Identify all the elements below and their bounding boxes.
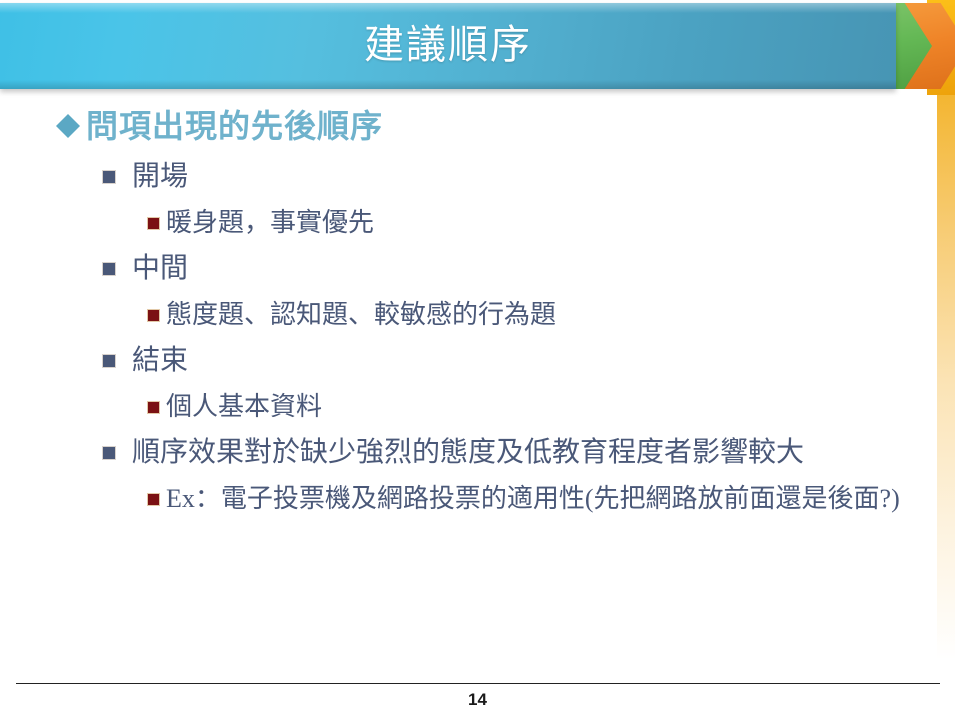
small-square-bullet-icon (148, 402, 159, 413)
small-square-bullet-icon (148, 310, 159, 321)
slide-canvas: 建議順序 問項出現的先後順序 開場 暖身題，事實優先 中間 (0, 0, 955, 719)
outline-item-level3-label: Ex：電子投票機及網路投票的適用性(先把網路放前面還是後面?) (166, 478, 900, 520)
outline-item-level1-label: 問項出現的先後順序 (86, 104, 383, 148)
outline-item-level1: 問項出現的先後順序 (0, 104, 940, 148)
slide-title: 建議順序 (0, 12, 896, 78)
footer-divider (16, 683, 940, 684)
outline-item-level2-label: 中間 (132, 246, 188, 292)
square-bullet-icon (103, 263, 115, 275)
diamond-bullet-icon (55, 113, 81, 139)
square-bullet-icon (103, 171, 115, 183)
outline-item-level2: 結束 (0, 338, 940, 384)
outline-item-level2: 開場 (0, 154, 940, 200)
outline-item-level3-label: 個人基本資料 (166, 386, 322, 428)
slide-header-banner: 建議順序 (0, 3, 896, 89)
outline-item-level3: 暖身題，事實優先 (0, 202, 940, 244)
outline-item-level3-label: 態度題、認知題、較敏感的行為題 (166, 294, 556, 336)
square-bullet-icon (103, 355, 115, 367)
outline-item-level3-label: 暖身題，事實優先 (166, 202, 374, 244)
outline-item-level3: 個人基本資料 (0, 386, 940, 428)
small-square-bullet-icon (148, 494, 159, 505)
outline-item-level2: 中間 (0, 246, 940, 292)
outline-item-level2-label: 開場 (132, 154, 188, 200)
square-bullet-icon (103, 447, 115, 459)
outline-item-level2-label: 順序效果對於缺少強烈的態度及低教育程度者影響較大 (132, 430, 804, 476)
outline-item-level2: 順序效果對於缺少強烈的態度及低教育程度者影響較大 (0, 430, 940, 476)
page-number: 14 (0, 690, 955, 710)
outline-item-level3: Ex：電子投票機及網路投票的適用性(先把網路放前面還是後面?) (0, 478, 940, 520)
outline-item-level2-label: 結束 (132, 338, 188, 384)
slide-body-content: 問項出現的先後順序 開場 暖身題，事實優先 中間 態度題、認知題、較敏感的行為題… (0, 104, 940, 522)
outline-item-level3: 態度題、認知題、較敏感的行為題 (0, 294, 940, 336)
small-square-bullet-icon (148, 218, 159, 229)
